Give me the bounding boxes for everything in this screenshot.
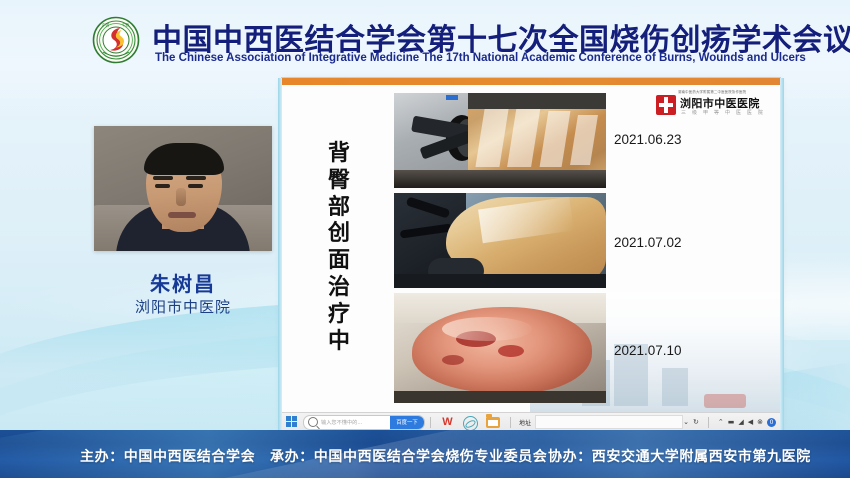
- hospital-affiliation-line: 湖南中医药大学附属第二中医医院协作医院: [678, 89, 746, 94]
- photo-date-1: 2021.06.23: [614, 132, 682, 147]
- browser-glyph: [463, 416, 478, 431]
- photo3-granulation-3: [442, 355, 464, 365]
- speaker-hair: [144, 143, 224, 175]
- taskbar-divider-2: [510, 417, 511, 428]
- slide-accent-bar: [282, 78, 780, 85]
- footer-organizer: 主办：中国中西医结合学会: [80, 446, 255, 466]
- wps-office-icon[interactable]: W: [440, 415, 455, 430]
- speaker-brow-left: [153, 176, 173, 180]
- search-placeholder: 输入您不懂中的...: [321, 419, 362, 426]
- speaker-organization: 浏阳市中医院: [94, 296, 272, 317]
- photo1-top-shadow: [468, 93, 606, 109]
- caption-char: 背: [324, 141, 354, 168]
- caption-char: 部: [324, 195, 354, 222]
- hospital-grade: 三 级 甲 等 中 医 医 院: [681, 109, 765, 116]
- conference-broadcast-screen: 中国中西 中国中西医结合学会第十七次全国烧伤创疡学术会议 The Chinese…: [0, 0, 850, 478]
- network-icon[interactable]: ◢: [738, 418, 743, 426]
- wound-photo-3: [394, 293, 606, 403]
- caption-char: 中: [324, 329, 354, 356]
- footer-undertaker: 承办：中国中西医结合学会烧伤专业委员会: [270, 446, 547, 466]
- photo1-bed-edge: [394, 170, 606, 188]
- photo-date-2: 2021.07.02: [614, 235, 682, 250]
- app-badge-icon[interactable]: 0: [767, 418, 776, 427]
- svg-text:中西: 中西: [122, 22, 130, 27]
- photo3-bottom-shadow: [394, 391, 606, 403]
- shared-screen-panel[interactable]: 湖南中医药大学附属第二中医医院协作医院 浏阳市中医医院 三 级 甲 等 中 医 …: [282, 78, 780, 430]
- close-circle-icon[interactable]: ⊗: [757, 418, 763, 426]
- chevron-up-icon[interactable]: ⌃: [718, 418, 724, 426]
- windows-taskbar[interactable]: 输入您不懂中的... 百度一下 W 地址 ⌄ ↻ ⌃ ▬ ◢ ◀ ⊗ 0: [282, 412, 780, 431]
- hospital-logo: 湖南中医药大学附属第二中医医院协作医院 浏阳市中医医院 三 级 甲 等 中 医 …: [654, 89, 772, 119]
- speaker-eye-left: [155, 184, 170, 188]
- browser-icon[interactable]: [463, 415, 478, 430]
- association-emblem-icon: 中国中西: [92, 16, 140, 64]
- caption-char: 创: [324, 221, 354, 248]
- folder-icon[interactable]: [486, 415, 501, 430]
- system-tray[interactable]: ⌄ ↻ ⌃ ▬ ◢ ◀ ⊗ 0: [683, 417, 776, 428]
- volume-icon[interactable]: ◀: [748, 418, 753, 426]
- speaker-brow-right: [186, 176, 206, 180]
- refresh-icon[interactable]: ↻: [693, 418, 699, 426]
- baidu-search-button[interactable]: 百度一下: [390, 416, 424, 429]
- address-input[interactable]: [535, 415, 683, 429]
- caption-char: 疗: [324, 302, 354, 329]
- speaker-name: 朱树昌: [94, 268, 272, 297]
- presentation-slide[interactable]: 湖南中医药大学附属第二中医医院协作医院 浏阳市中医医院 三 级 甲 等 中 医 …: [282, 85, 780, 412]
- battery-icon[interactable]: ▬: [728, 418, 735, 426]
- wps-letter: W: [440, 415, 455, 430]
- folder-glyph: [486, 417, 500, 428]
- dropdown-icon[interactable]: ⌄: [683, 418, 689, 426]
- photo1-blue-marker: [446, 95, 458, 100]
- wound-photo-1: [394, 93, 606, 188]
- slide-bg-building-3: [662, 368, 688, 406]
- speaker-nose: [176, 188, 186, 206]
- red-cross-icon: [656, 95, 676, 115]
- photo-date-3: 2021.07.10: [614, 343, 682, 358]
- share-edge-right: [780, 78, 784, 430]
- footer-coorganizer: 协办：西安交通大学附属西安市第九医院: [548, 446, 811, 466]
- page-subtitle: The Chinese Association of Integrative M…: [155, 52, 806, 64]
- header-banner: 中国中西 中国中西医结合学会第十七次全国烧伤创疡学术会议 The Chinese…: [0, 0, 850, 78]
- wound-photo-2: [394, 193, 606, 288]
- speaker-mouth: [168, 212, 196, 218]
- caption-char: 臀: [324, 168, 354, 195]
- photo3-highlight: [442, 317, 532, 341]
- caption-char: 治: [324, 275, 354, 302]
- photo2-bottom-shadow: [394, 274, 606, 288]
- footer-bar: 主办：中国中西医结合学会 承办：中国中西医结合学会烧伤专业委员会 协办：西安交通…: [0, 430, 850, 478]
- speaker-eye-right: [188, 184, 203, 188]
- caption-char: 面: [324, 248, 354, 275]
- taskbar-divider: [430, 417, 431, 428]
- search-icon: [308, 417, 318, 427]
- tray-divider: [708, 417, 709, 428]
- slide-bg-sign: [704, 394, 746, 408]
- search-input[interactable]: 输入您不懂中的... 百度一下: [303, 415, 425, 430]
- address-label: 地址: [519, 418, 531, 427]
- windows-start-icon[interactable]: [285, 415, 299, 429]
- svg-text:中国: 中国: [102, 22, 110, 27]
- slide-vertical-caption: 背 臀 部 创 面 治 疗 中: [324, 141, 354, 356]
- photo3-granulation-2: [498, 345, 524, 357]
- share-edge-left: [278, 78, 282, 430]
- speaker-video-feed[interactable]: [94, 126, 272, 251]
